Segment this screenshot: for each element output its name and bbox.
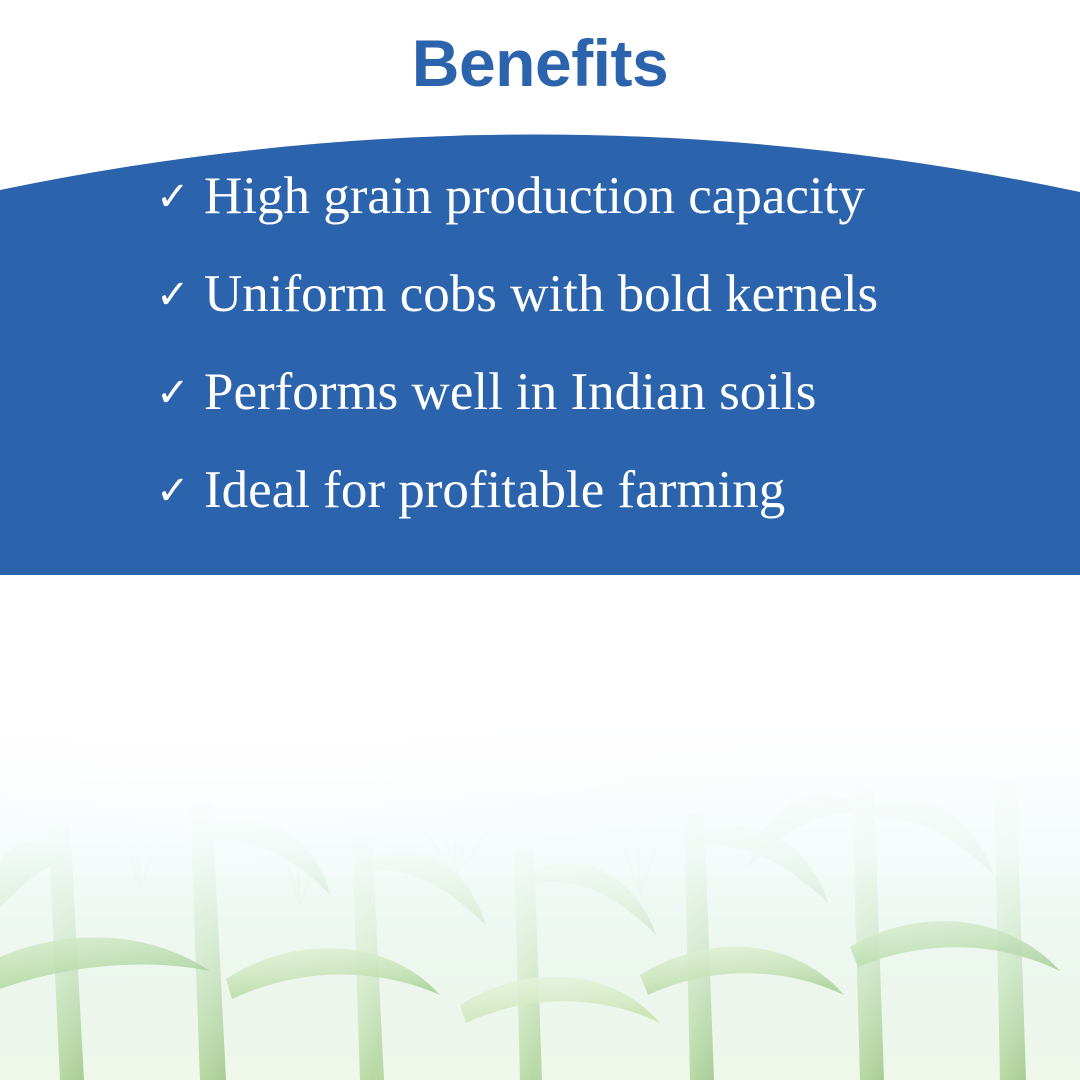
list-item: ✓ High grain production capacity (0, 170, 1080, 268)
benefit-label: High grain production capacity (204, 170, 865, 223)
check-icon: ✓ (156, 177, 204, 217)
benefits-poster: Benefits ✓ High grain production capacit… (0, 0, 1080, 1080)
page-title-container: Benefits (0, 0, 1080, 120)
benefit-label: Uniform cobs with bold kernels (204, 268, 878, 321)
list-item: ✓ Uniform cobs with bold kernels (0, 268, 1080, 366)
check-icon: ✓ (156, 373, 204, 413)
list-item: ✓ Ideal for profitable farming (0, 464, 1080, 562)
list-item: ✓ Performs well in Indian soils (0, 366, 1080, 464)
page-title: Benefits (412, 30, 668, 96)
corn-field-photo (0, 575, 1080, 1080)
benefit-label: Performs well in Indian soils (204, 366, 816, 419)
benefit-label: Ideal for profitable farming (204, 464, 785, 517)
check-icon: ✓ (156, 471, 204, 511)
benefits-list: ✓ High grain production capacity ✓ Unifo… (0, 170, 1080, 562)
check-icon: ✓ (156, 275, 204, 315)
